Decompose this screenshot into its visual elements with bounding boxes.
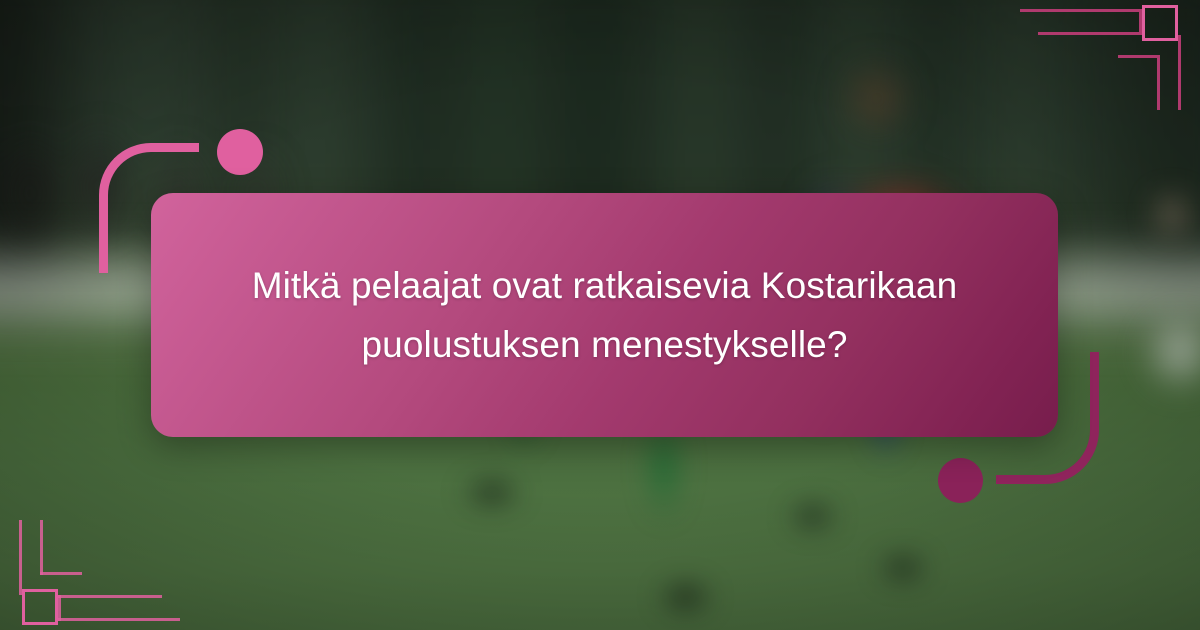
dot-bottom-right-icon (938, 458, 983, 503)
headline-card: Mitkä pelaajat ovat ratkaisevia Kostarik… (151, 193, 1058, 437)
social-card-canvas: Mitkä pelaajat ovat ratkaisevia Kostarik… (0, 0, 1200, 630)
page-title: Mitkä pelaajat ovat ratkaisevia Kostarik… (209, 256, 1000, 374)
dot-top-left-icon (217, 129, 263, 175)
